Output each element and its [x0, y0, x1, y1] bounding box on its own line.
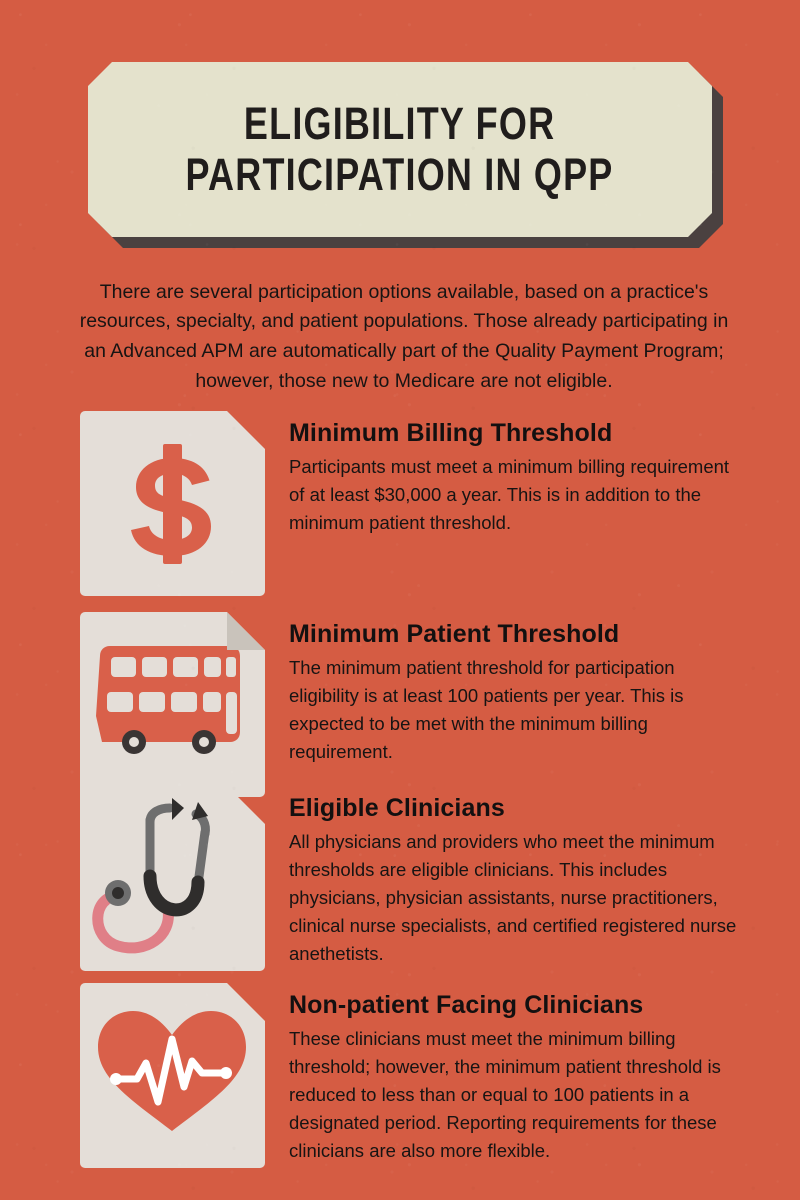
section-heading: Minimum Billing Threshold	[289, 420, 740, 448]
section-body: The minimum patient threshold for partic…	[289, 654, 740, 766]
section-text: Minimum Billing Threshold Participants m…	[265, 411, 740, 537]
title-line-2: Participation in QPP	[186, 150, 614, 200]
title-banner: Eligibility for Participation in QPP	[88, 62, 723, 248]
dollar-sign-icon	[80, 411, 265, 596]
icon-card	[80, 612, 265, 797]
double-decker-bus-icon	[80, 612, 265, 797]
section-minimum-billing-threshold: Minimum Billing Threshold Participants m…	[80, 411, 740, 596]
section-heading: Minimum Patient Threshold	[289, 621, 740, 649]
section-body: Participants must meet a minimum billing…	[289, 453, 740, 537]
section-body: All physicians and providers who meet th…	[289, 828, 740, 969]
icon-card	[80, 786, 265, 971]
section-minimum-patient-threshold: Minimum Patient Threshold The minimum pa…	[80, 612, 740, 797]
section-eligible-clinicians: Eligible Clinicians All physicians and p…	[80, 786, 740, 971]
icon-card	[80, 983, 265, 1168]
section-text: Non-patient Facing Clinicians These clin…	[265, 983, 740, 1165]
section-body: These clinicians must meet the minimum b…	[289, 1025, 740, 1166]
section-heading: Eligible Clinicians	[289, 795, 740, 823]
intro-paragraph: There are several participation options …	[78, 278, 730, 397]
title-banner-plate: Eligibility for Participation in QPP	[88, 62, 712, 237]
stethoscope-icon	[80, 786, 265, 971]
section-text: Minimum Patient Threshold The minimum pa…	[265, 612, 740, 766]
section-text: Eligible Clinicians All physicians and p…	[265, 786, 740, 968]
heart-ecg-icon	[80, 983, 265, 1168]
title-line-1: Eligibility for	[244, 99, 555, 149]
icon-card	[80, 411, 265, 596]
section-heading: Non-patient Facing Clinicians	[289, 992, 740, 1020]
section-non-patient-facing-clinicians: Non-patient Facing Clinicians These clin…	[80, 983, 740, 1168]
